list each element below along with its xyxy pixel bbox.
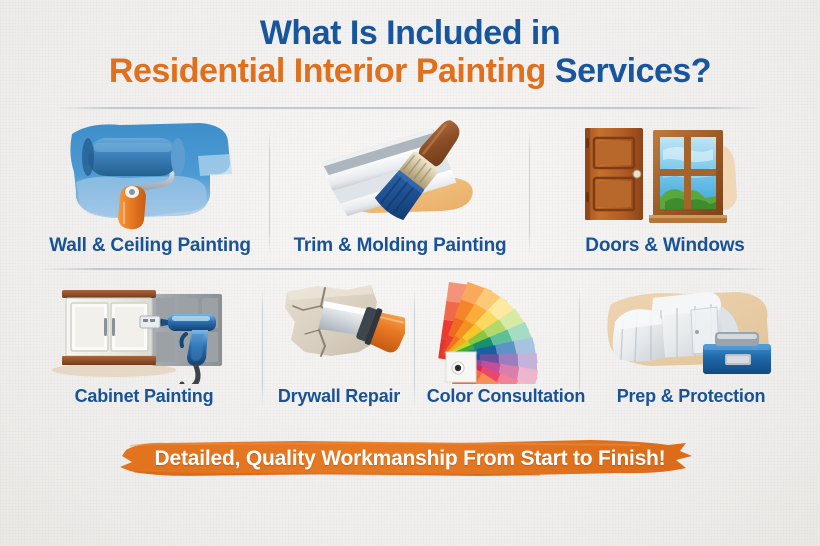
- page-title: What Is Included in Residential Interior…: [0, 14, 820, 90]
- banner-text: Detailed, Quality Workmanship From Start…: [120, 438, 700, 480]
- divider-vertical-r2-2: [414, 288, 415, 408]
- infographic-page: What Is Included in Residential Interior…: [0, 0, 820, 546]
- divider-middle: [40, 268, 775, 270]
- drop-cloth-toolbox-icon: [599, 276, 784, 384]
- divider-vertical-r2-1: [262, 288, 263, 408]
- service-card-wall-ceiling-painting[interactable]: Wall & Ceiling Painting: [30, 116, 270, 257]
- title-highlight-orange: Residential Interior Painting: [109, 52, 546, 90]
- service-label-prep-protection: Prep & Protection: [617, 386, 766, 407]
- service-label-drywall-repair: Drywall Repair: [278, 386, 400, 407]
- color-fan-deck-icon: [426, 276, 586, 384]
- service-label-doors-windows: Doors & Windows: [585, 235, 744, 257]
- paint-brush-trim-icon: [310, 116, 490, 231]
- service-label-color-consultation: Color Consultation: [427, 386, 585, 407]
- title-line-2: Residential Interior Painting Services?: [0, 52, 820, 90]
- service-card-doors-windows[interactable]: Doors & Windows: [540, 116, 790, 257]
- service-card-color-consultation[interactable]: Color Consultation: [420, 276, 592, 407]
- service-card-prep-protection[interactable]: Prep & Protection: [592, 276, 790, 407]
- door-and-window-icon: [565, 116, 765, 231]
- service-label-trim-molding-painting: Trim & Molding Painting: [294, 235, 507, 257]
- service-card-drywall-repair[interactable]: Drywall Repair: [268, 276, 410, 407]
- footer-banner: Detailed, Quality Workmanship From Start…: [120, 438, 700, 480]
- service-card-cabinet-painting[interactable]: Cabinet Painting: [30, 276, 258, 407]
- cracked-drywall-trowel-icon: [273, 276, 405, 384]
- title-line-1: What Is Included in: [0, 14, 820, 52]
- cabinet-sprayer-icon: [44, 276, 244, 384]
- service-label-cabinet-painting: Cabinet Painting: [75, 386, 214, 407]
- service-label-wall-ceiling-painting: Wall & Ceiling Painting: [49, 235, 251, 257]
- divider-vertical-r1-2: [529, 130, 530, 255]
- paint-roller-icon: [60, 116, 240, 231]
- divider-top: [55, 107, 765, 109]
- title-suffix-blue: Services?: [555, 52, 711, 90]
- service-card-trim-molding-painting[interactable]: Trim & Molding Painting: [282, 116, 518, 257]
